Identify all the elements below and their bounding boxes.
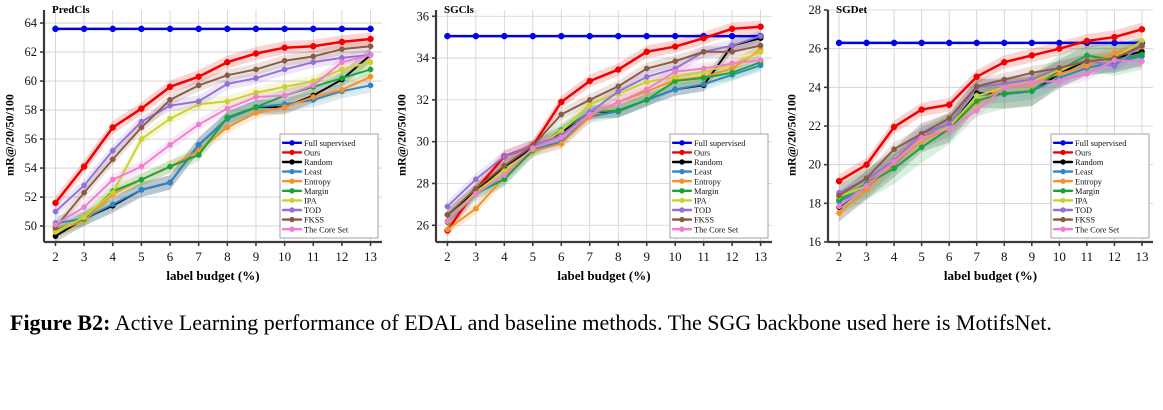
plot-area-predcls: 50525456586062642345678910111213Full sup… (0, 0, 392, 298)
svg-text:Full supervised: Full supervised (1075, 139, 1127, 148)
svg-text:11: 11 (307, 249, 320, 264)
svg-text:10: 10 (278, 249, 291, 264)
svg-text:Entropy: Entropy (1075, 177, 1103, 186)
svg-text:30: 30 (417, 135, 430, 149)
svg-text:Margin: Margin (694, 187, 719, 196)
svg-text:IPA: IPA (1075, 197, 1088, 206)
svg-text:Random: Random (304, 158, 333, 167)
svg-text:IPA: IPA (304, 197, 317, 206)
chart-panel-sgcls: mR@/20/50/100 26283032343623456789101112… (392, 0, 782, 298)
svg-text:10: 10 (1053, 249, 1066, 264)
svg-text:58: 58 (25, 103, 38, 117)
svg-text:20: 20 (809, 158, 822, 172)
svg-text:8: 8 (1001, 249, 1008, 264)
svg-text:50: 50 (25, 219, 38, 233)
svg-text:26: 26 (809, 42, 822, 56)
svg-text:Entropy: Entropy (694, 177, 722, 186)
svg-text:TOD: TOD (1075, 206, 1092, 215)
svg-text:Ours: Ours (1075, 149, 1091, 158)
plot-area-sgcls: 2628303234362345678910111213Full supervi… (392, 0, 782, 298)
svg-text:Entropy: Entropy (304, 177, 332, 186)
svg-text:13: 13 (1135, 249, 1148, 264)
svg-text:26: 26 (417, 218, 430, 232)
svg-text:16: 16 (809, 235, 822, 249)
svg-text:28: 28 (809, 3, 822, 17)
svg-text:2: 2 (836, 249, 843, 264)
svg-text:24: 24 (809, 80, 822, 94)
svg-text:5: 5 (530, 249, 537, 264)
svg-text:9: 9 (1029, 249, 1036, 264)
chart-panel-sgdet: mR@/20/50/100 16182022242628234567891011… (782, 0, 1163, 298)
svg-text:5: 5 (138, 249, 145, 264)
svg-text:Ours: Ours (694, 149, 710, 158)
svg-text:TOD: TOD (694, 206, 711, 215)
svg-text:32: 32 (417, 93, 430, 107)
svg-text:8: 8 (224, 249, 231, 264)
svg-text:7: 7 (587, 249, 594, 264)
svg-text:IPA: IPA (694, 197, 707, 206)
svg-text:6: 6 (558, 249, 565, 264)
chart-legend: Full supervisedOursRandomLeastEntropyMar… (670, 134, 768, 238)
svg-text:The Core Set: The Core Set (1075, 225, 1120, 234)
svg-text:36: 36 (417, 9, 430, 23)
svg-text:FKSS: FKSS (304, 216, 324, 225)
svg-text:Least: Least (1075, 168, 1094, 177)
svg-text:2: 2 (444, 249, 451, 264)
svg-text:7: 7 (973, 249, 980, 264)
svg-text:18: 18 (809, 196, 822, 210)
svg-text:6: 6 (946, 249, 953, 264)
svg-text:3: 3 (81, 249, 88, 264)
svg-text:54: 54 (25, 161, 38, 175)
figure-root: mR@/20/50/100 50525456586062642345678910… (0, 0, 1163, 410)
svg-text:56: 56 (25, 132, 38, 146)
x-axis-label-sgcls: label budget (%) (436, 268, 772, 284)
svg-text:Random: Random (694, 158, 723, 167)
svg-text:28: 28 (417, 176, 430, 190)
svg-text:3: 3 (473, 249, 480, 264)
chart-legend: Full supervisedOursRandomLeastEntropyMar… (280, 134, 378, 238)
svg-text:FKSS: FKSS (694, 216, 714, 225)
svg-text:2: 2 (52, 249, 59, 264)
chart-svg-predcls: 50525456586062642345678910111213Full sup… (0, 0, 392, 298)
svg-text:Least: Least (304, 168, 323, 177)
x-axis-label-sgdet: label budget (%) (828, 268, 1153, 284)
svg-text:52: 52 (25, 190, 38, 204)
figure-caption: Figure B2: Active Learning performance o… (10, 308, 1155, 337)
subplot-title-predcls: PredCls (52, 4, 90, 16)
svg-text:11: 11 (1081, 249, 1094, 264)
chart-svg-sgcls: 2628303234362345678910111213Full supervi… (392, 0, 782, 298)
chart-svg-sgdet: 161820222426282345678910111213Full super… (782, 0, 1163, 298)
svg-text:4: 4 (501, 249, 508, 264)
chart-panels: mR@/20/50/100 50525456586062642345678910… (0, 0, 1163, 298)
svg-text:62: 62 (25, 45, 38, 59)
svg-text:The Core Set: The Core Set (304, 225, 349, 234)
subplot-title-sgcls: SGCls (444, 4, 474, 16)
svg-text:34: 34 (417, 51, 430, 65)
svg-text:64: 64 (25, 16, 38, 30)
svg-text:The Core Set: The Core Set (694, 225, 739, 234)
svg-text:12: 12 (726, 249, 739, 264)
svg-text:Margin: Margin (1075, 187, 1100, 196)
svg-text:7: 7 (195, 249, 202, 264)
svg-text:4: 4 (891, 249, 898, 264)
svg-text:10: 10 (669, 249, 682, 264)
svg-text:6: 6 (167, 249, 174, 264)
svg-text:8: 8 (615, 249, 622, 264)
svg-text:Random: Random (1075, 158, 1104, 167)
subplot-title-sgdet: SGDet (836, 4, 867, 16)
plot-area-sgdet: 161820222426282345678910111213Full super… (782, 0, 1163, 298)
svg-text:22: 22 (809, 119, 822, 133)
svg-text:12: 12 (335, 249, 348, 264)
chart-panel-predcls: mR@/20/50/100 50525456586062642345678910… (0, 0, 392, 298)
svg-text:Ours: Ours (304, 149, 320, 158)
x-axis-label-predcls: label budget (%) (44, 268, 382, 284)
svg-text:12: 12 (1108, 249, 1121, 264)
svg-text:60: 60 (25, 74, 38, 88)
svg-text:Full supervised: Full supervised (694, 139, 746, 148)
svg-text:5: 5 (918, 249, 925, 264)
svg-text:13: 13 (364, 249, 377, 264)
svg-text:9: 9 (253, 249, 260, 264)
chart-legend: Full supervisedOursRandomLeastEntropyMar… (1051, 134, 1149, 238)
figure-caption-label: Figure B2: (10, 310, 110, 335)
svg-text:TOD: TOD (304, 206, 321, 215)
svg-text:Margin: Margin (304, 187, 329, 196)
svg-text:3: 3 (863, 249, 870, 264)
svg-text:9: 9 (643, 249, 650, 264)
svg-text:13: 13 (754, 249, 767, 264)
svg-text:11: 11 (697, 249, 710, 264)
svg-text:FKSS: FKSS (1075, 216, 1095, 225)
figure-caption-text: Active Learning performance of EDAL and … (110, 310, 1051, 335)
svg-text:4: 4 (109, 249, 116, 264)
svg-text:Least: Least (694, 168, 713, 177)
svg-text:Full supervised: Full supervised (304, 139, 356, 148)
